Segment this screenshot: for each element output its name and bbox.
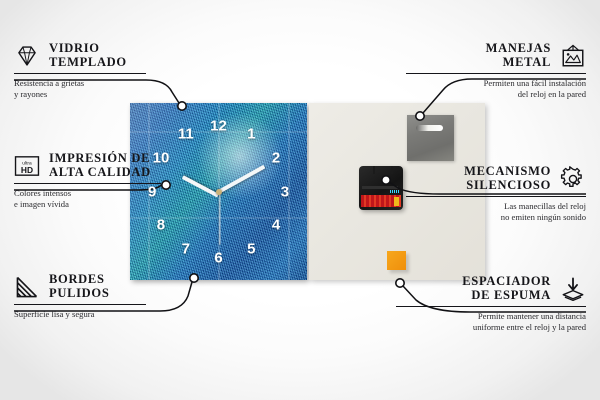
- callout-title: MECANISMO SILENCIOSO: [406, 165, 551, 192]
- callout-mecanismo-silencioso: MECANISMO SILENCIOSO Las manecillas del …: [406, 165, 586, 223]
- callout-rule: [396, 306, 586, 307]
- callout-vidrio-templado: VIDRIO TEMPLADO Resistencia a grietas y …: [14, 42, 174, 100]
- clock-numeral-4: 4: [272, 218, 280, 233]
- clock-numeral-5: 5: [247, 242, 255, 257]
- clock-numeral-9: 9: [148, 184, 156, 199]
- callout-header: VIDRIO TEMPLADO: [14, 42, 174, 69]
- callout-title: MANEJAS METAL: [406, 42, 551, 69]
- callout-rule: [14, 183, 161, 184]
- callout-subtitle: Superficie lisa y segura: [14, 309, 174, 320]
- ultra-hd-icon: ultra HD: [14, 153, 40, 179]
- mechanism-label-mark: [394, 197, 399, 206]
- svg-text:HD: HD: [21, 164, 33, 174]
- clock-numeral-2: 2: [272, 150, 280, 165]
- clock-numeral-11: 11: [178, 126, 194, 141]
- foam-spacer: [387, 251, 406, 270]
- callout-rule: [14, 304, 146, 305]
- callout-subtitle: Permiten una fácil instalación del reloj…: [406, 78, 586, 99]
- callout-subtitle: Permite mantener una distancia uniforme …: [396, 311, 586, 332]
- callout-header: MANEJAS METAL: [406, 42, 586, 69]
- callout-subtitle: Colores intensos e imagen vívida: [14, 188, 184, 209]
- callout-title: IMPRESIÓN DE ALTA CALIDAD: [49, 152, 151, 179]
- callout-espaciador-espuma: ESPACIADOR DE ESPUMA Permite mantener un…: [396, 275, 586, 333]
- metal-hanger-plate: [407, 115, 454, 161]
- clock-numeral-12: 12: [210, 119, 227, 134]
- mechanism-contacts: [390, 190, 399, 193]
- callout-header: BORDES PULIDOS: [14, 273, 174, 300]
- clock-mechanism: [359, 166, 403, 210]
- callout-header: ESPACIADOR DE ESPUMA: [396, 275, 586, 302]
- clock-second-hand: [219, 192, 220, 244]
- clock-hour-hand: [181, 175, 218, 197]
- clock-numeral-1: 1: [247, 126, 255, 141]
- clock-minute-hand: [217, 164, 265, 193]
- callout-bordes-pulidos: BORDES PULIDOS Superficie lisa y segura: [14, 273, 174, 320]
- clock-center-cap: [216, 189, 222, 195]
- foam-spacer-arrow-icon: [560, 276, 586, 302]
- clock-numeral-8: 8: [157, 218, 165, 233]
- callout-header: MECANISMO SILENCIOSO: [406, 165, 586, 192]
- callout-title: ESPACIADOR DE ESPUMA: [396, 275, 551, 302]
- clock-numeral-6: 6: [214, 250, 222, 265]
- diamond-icon: [14, 43, 40, 69]
- clock-numeral-3: 3: [281, 184, 289, 199]
- polished-edges-icon: [14, 274, 40, 300]
- gear-icon: [560, 166, 586, 192]
- infographic-canvas: 12 1 2 3 4 5 6 7 8 9 10 11: [0, 0, 600, 400]
- mechanism-seam: [362, 186, 398, 189]
- mechanism-hanger-loop: [373, 166, 393, 174]
- clock-numeral-10: 10: [153, 150, 170, 165]
- clock-numeral-7: 7: [182, 242, 190, 257]
- callout-subtitle: Resistencia a grietas y rayones: [14, 78, 174, 99]
- callout-title: VIDRIO TEMPLADO: [49, 42, 127, 69]
- hanger-keyhole-slot: [416, 125, 443, 131]
- callout-subtitle: Las manecillas del reloj no emiten ningú…: [406, 201, 586, 222]
- wall-hanging-frame-icon: [560, 43, 586, 69]
- callout-rule: [14, 73, 146, 74]
- callout-rule: [406, 196, 586, 197]
- callout-rule: [406, 73, 586, 74]
- callout-title: BORDES PULIDOS: [49, 273, 109, 300]
- callout-manejas-metal: MANEJAS METAL Permiten una fácil instala…: [406, 42, 586, 100]
